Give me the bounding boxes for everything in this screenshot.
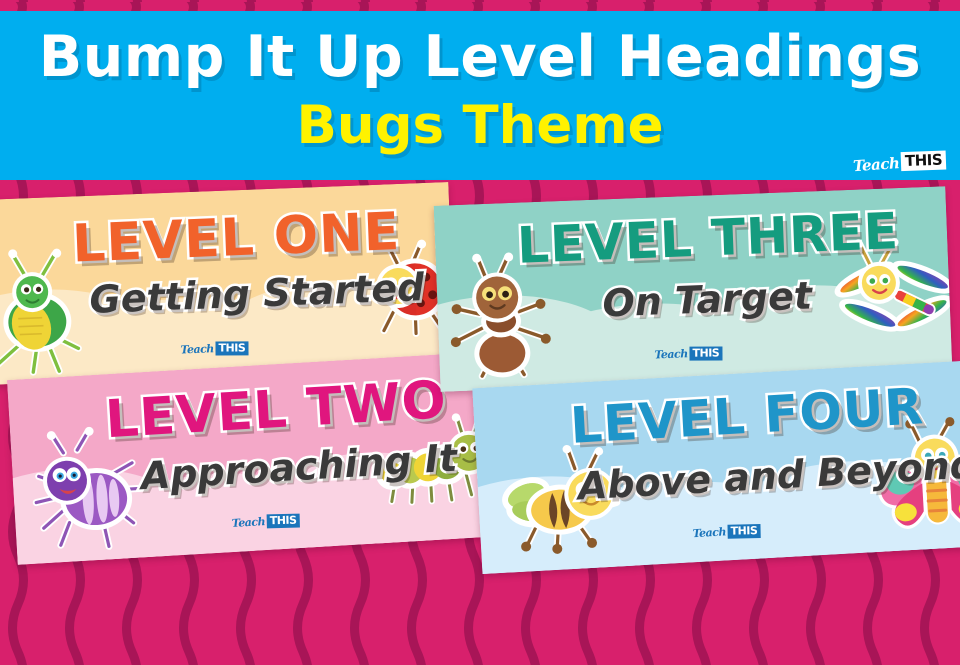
card-three-descriptor: On Target <box>602 273 813 325</box>
logo-word-teach: Teach <box>852 153 899 174</box>
card-level-three[interactable]: LEVEL THREE On Target Teach THIS <box>434 186 953 392</box>
card-level-one[interactable]: LEVEL ONE Getting Started Teach THIS <box>0 182 455 385</box>
card-level-two[interactable]: LEVEL TWO Approaching It Teach THIS <box>7 352 487 565</box>
logo-word-teach: Teach <box>692 525 726 540</box>
logo-word-this: THIS <box>728 524 761 539</box>
logo-word-this: THIS <box>267 513 300 528</box>
page-title: Bump It Up Level Headings <box>0 24 960 90</box>
logo-word-this: THIS <box>690 346 723 360</box>
logo-word-this: THIS <box>900 150 946 171</box>
logo-word-teach: Teach <box>654 347 688 361</box>
logo-word-teach: Teach <box>180 342 214 356</box>
poster-canvas: Bump It Up Level Headings Bugs Theme Tea… <box>0 0 960 665</box>
top-stripe-band <box>0 0 960 11</box>
teach-this-logo-card-three[interactable]: Teach THIS <box>654 343 723 364</box>
logo-word-this: THIS <box>216 341 249 355</box>
card-one-level-label: LEVEL ONE <box>71 202 401 275</box>
header-banner: Bump It Up Level Headings Bugs Theme Tea… <box>0 11 960 180</box>
page-subtitle: Bugs Theme <box>0 95 960 156</box>
teach-this-logo-card-four[interactable]: Teach THIS <box>692 520 761 542</box>
card-level-four[interactable]: LEVEL FOUR Above and Beyond Teach THIS <box>472 360 960 574</box>
logo-word-teach: Teach <box>231 515 265 530</box>
teach-this-logo-card-one[interactable]: Teach THIS <box>180 338 249 359</box>
